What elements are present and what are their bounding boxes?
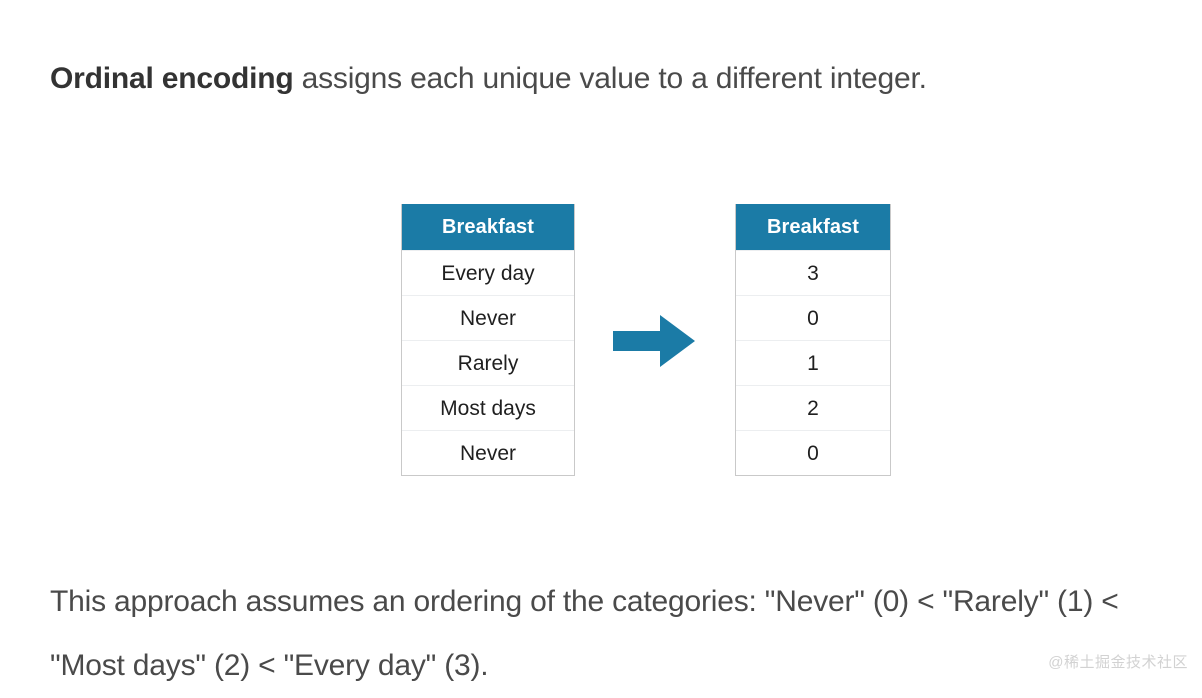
table-row: 2 <box>736 385 890 430</box>
encoded-table: Breakfast 3 0 1 2 0 <box>735 204 891 476</box>
table-row: Most days <box>402 385 574 430</box>
table-row: 0 <box>736 295 890 340</box>
right-arrow-icon <box>611 312 697 370</box>
table-row: 0 <box>736 430 890 475</box>
conclusion-paragraph: This approach assumes an ordering of the… <box>50 570 1190 698</box>
table-row: 1 <box>736 340 890 385</box>
table-row: Never <box>402 430 574 475</box>
source-table-header: Breakfast <box>402 204 574 250</box>
encoded-table-header: Breakfast <box>736 204 890 250</box>
source-table: Breakfast Every day Never Rarely Most da… <box>401 204 575 476</box>
page-root: Ordinal encoding assigns each unique val… <box>0 0 1202 680</box>
table-row: Every day <box>402 250 574 295</box>
table-row: 3 <box>736 250 890 295</box>
watermark: @稀土掘金技术社区 <box>1048 651 1188 672</box>
table-row: Rarely <box>402 340 574 385</box>
table-row: Never <box>402 295 574 340</box>
